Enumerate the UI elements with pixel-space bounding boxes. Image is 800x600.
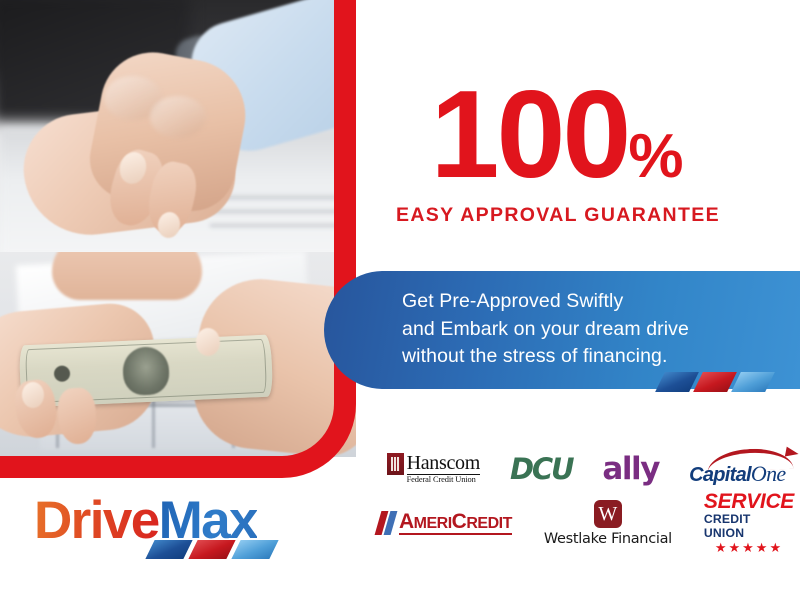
headline-percent-number: 100% [396,78,716,192]
lender-row-2: AMERICREDIT W Westlake Financial SERVICE… [386,496,786,550]
headline-number: 100 [430,66,628,204]
desk-detail-line [196,210,356,213]
chevron-icon [188,540,235,559]
dcu-wordmark: DCU [510,452,572,486]
hundred-dollar-bill [19,335,273,408]
lender-americredit[interactable]: AMERICREDIT [378,511,512,535]
headline-subtitle: EASY APPROVAL GUARANTEE [396,204,716,227]
americredit-wordmark: AMERICREDIT [399,511,512,535]
americredit-slashes-icon [378,511,396,535]
callout-text: Get Pre-Approved Swiftly and Embark on y… [402,288,689,371]
callout-line-1: Get Pre-Approved Swiftly [402,288,689,316]
upper-hand [52,252,202,300]
lender-westlake-financial[interactable]: W Westlake Financial [544,500,672,547]
americredit-c: C [452,510,467,533]
chevron-icon [231,540,278,559]
lender-capital-one[interactable]: CapitalOne [689,451,785,487]
knuckle-highlight [150,96,206,138]
lender-ally[interactable]: ally [602,451,659,487]
callout-line-3: without the stress of financing. [402,343,689,371]
service-wordmark: SERVICE [704,491,794,512]
lender-row-1: Hanscom Federal Credit Union DCU ally Ca… [386,444,786,494]
desk-detail-line [210,224,356,227]
handshake-photo [0,0,356,252]
fingernail [196,328,220,356]
americredit-redit: REDIT [466,515,512,532]
hanscom-emblem-icon [387,453,404,475]
hanscom-name: Hanscom [407,453,480,473]
americredit-a: A [399,510,414,533]
cash-exchange-photo [0,252,356,457]
service-subtitle: CREDIT UNION [704,512,794,541]
chevron-icon [693,372,737,392]
photo-collage [0,0,356,457]
chevron-icon [655,372,699,392]
westlake-wordmark: Westlake Financial [544,531,672,547]
fingernail [22,382,44,408]
promotional-banner: 100% EASY APPROVAL GUARANTEE Get Pre-App… [0,0,800,600]
capital-one-swoosh-icon [707,447,794,473]
lender-dcu[interactable]: DCU [510,452,572,486]
chevron-icon [731,372,775,392]
americredit-meri: MERI [414,515,452,532]
headline-block: 100% EASY APPROVAL GUARANTEE [396,78,716,227]
percent-symbol: % [628,122,681,191]
lender-hanscom[interactable]: Hanscom Federal Credit Union [387,453,480,484]
hanscom-text: Hanscom Federal Credit Union [407,453,480,484]
chevron-icon [145,540,192,559]
lender-logos: Hanscom Federal Credit Union DCU ally Ca… [386,444,786,550]
ally-wordmark: ally [602,451,659,487]
lender-service-credit-union[interactable]: SERVICE CREDIT UNION ★★★★★ [704,491,794,556]
service-stars-icon: ★★★★★ [715,541,783,555]
hanscom-subtitle: Federal Credit Union [407,474,480,484]
logo-chevron-group [150,540,274,559]
logo-text-drive: Drive [34,491,159,550]
chevron-accent-group [660,372,770,392]
callout-line-2: and Embark on your dream drive [402,316,689,344]
westlake-w-icon: W [594,500,622,528]
